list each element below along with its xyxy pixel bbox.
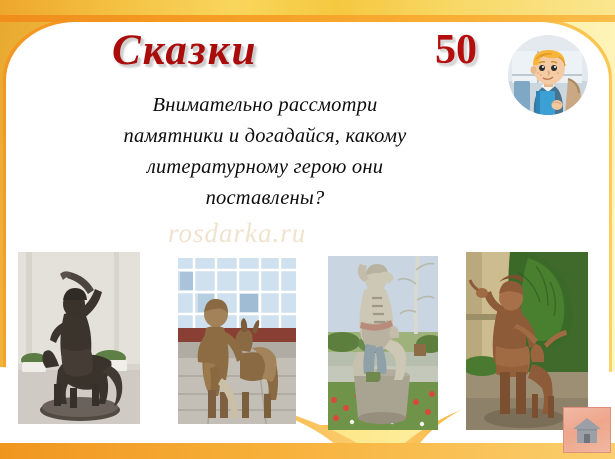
- home-button[interactable]: [563, 407, 611, 453]
- statue-photo-2[interactable]: [178, 258, 296, 424]
- bottom-gold-band: [0, 443, 615, 459]
- question-text: Внимательно рассмотри памятники и догада…: [40, 90, 490, 214]
- quiz-slide: Сказки 50: [0, 0, 615, 459]
- question-line: памятники и догадайся, какому: [40, 121, 490, 152]
- question-line: Внимательно рассмотри: [40, 90, 490, 121]
- statue-photo-1[interactable]: [18, 252, 140, 424]
- question-line: поставлены?: [40, 183, 490, 214]
- avatar: [508, 35, 588, 115]
- statue-photo-3[interactable]: [328, 256, 438, 430]
- score-value: 50: [435, 26, 477, 74]
- house-icon: [572, 416, 602, 444]
- question-line: литературному герою они: [40, 152, 490, 183]
- top-gold-band: [0, 0, 615, 22]
- page-title: Сказки: [112, 26, 257, 75]
- statue-photo-strip: [0, 252, 615, 434]
- schoolboy-icon: [508, 35, 588, 115]
- statue-photo-4[interactable]: [466, 252, 588, 430]
